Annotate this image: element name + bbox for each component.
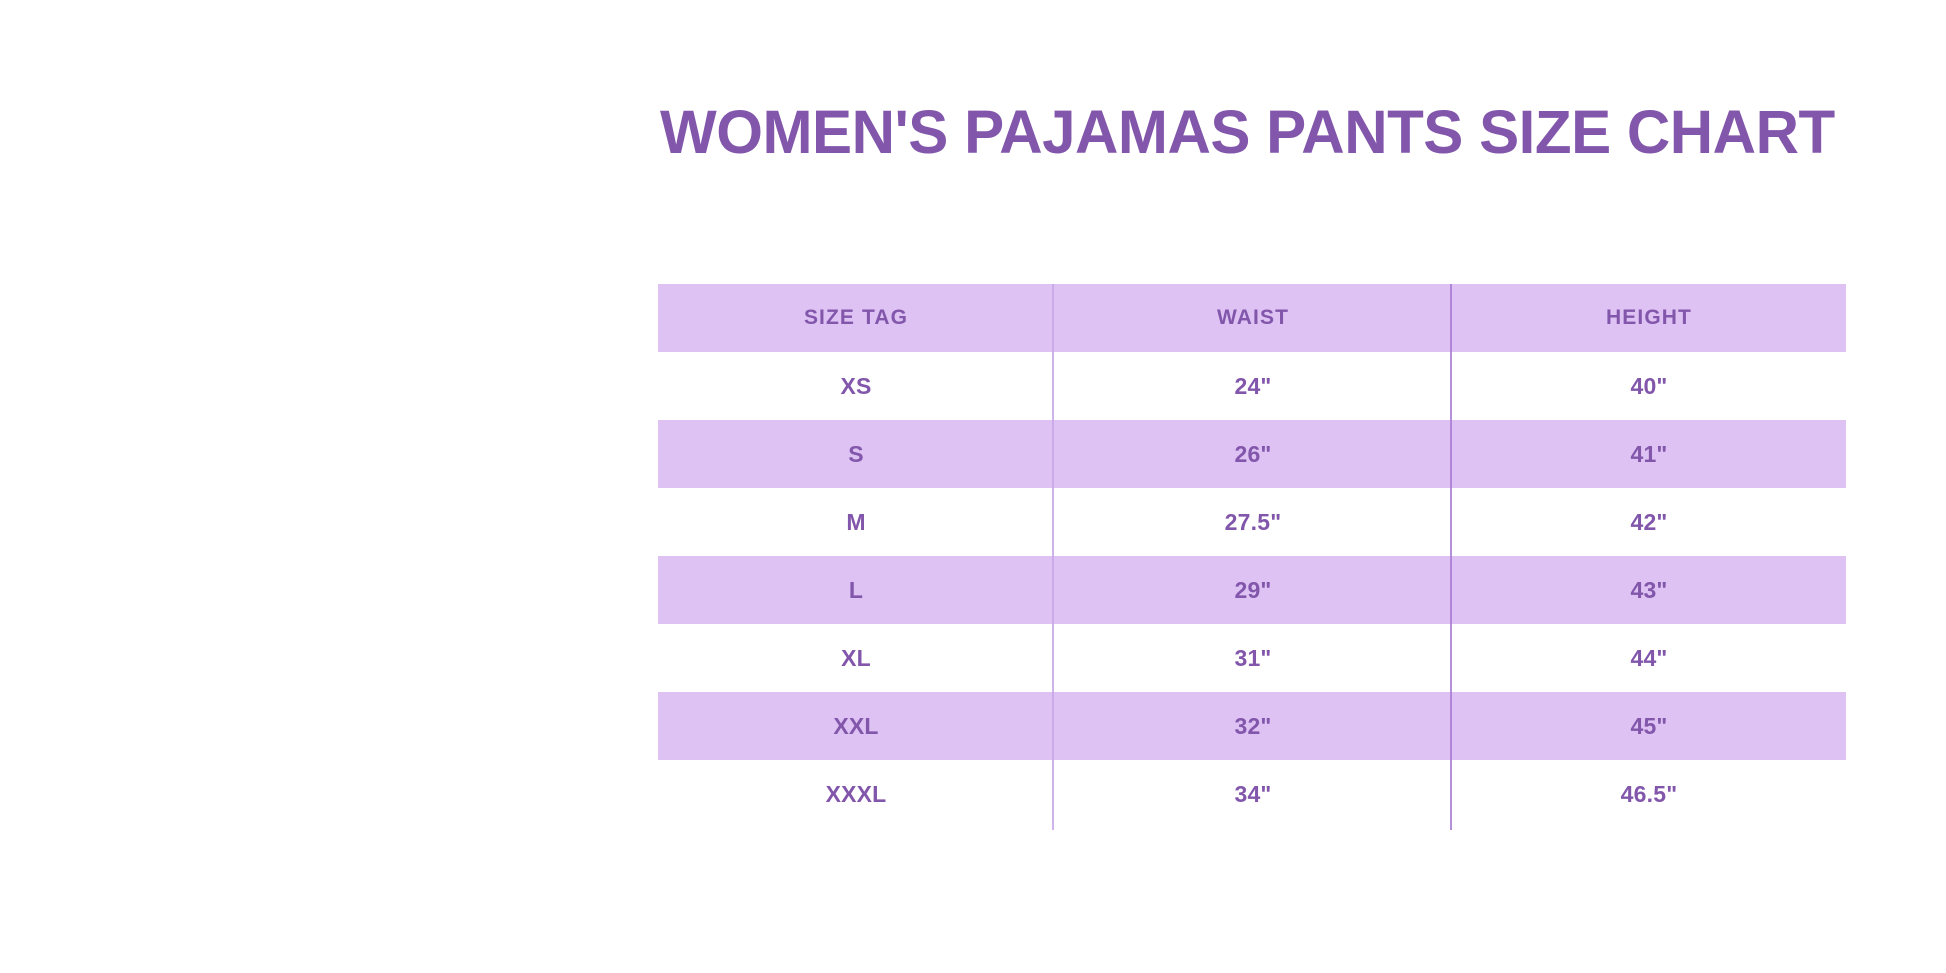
cell-waist: 24" xyxy=(1054,352,1452,420)
size-chart-table-container: SIZE TAG WAIST HEIGHT XS 24" 40" S 26" 4… xyxy=(658,284,1846,830)
cell-waist: 29" xyxy=(1054,556,1452,624)
cell-waist: 32" xyxy=(1054,692,1452,760)
cell-size-tag: XL xyxy=(658,624,1054,692)
cell-size-tag: S xyxy=(658,420,1054,488)
table-row: XS 24" 40" xyxy=(658,352,1846,420)
table-body: XS 24" 40" S 26" 41" M 27.5" 42" L 29" xyxy=(658,352,1846,828)
cell-size-tag: XXL xyxy=(658,692,1054,760)
column-header-size-tag: SIZE TAG xyxy=(658,284,1054,352)
cell-height: 41" xyxy=(1452,420,1846,488)
table-row: XXXL 34" 46.5" xyxy=(658,760,1846,828)
cell-height: 43" xyxy=(1452,556,1846,624)
cell-size-tag: L xyxy=(658,556,1054,624)
cell-size-tag: M xyxy=(658,488,1054,556)
cell-height: 45" xyxy=(1452,692,1846,760)
table-row: L 29" 43" xyxy=(658,556,1846,624)
cell-waist: 34" xyxy=(1054,760,1452,828)
cell-height: 44" xyxy=(1452,624,1846,692)
cell-height: 46.5" xyxy=(1452,760,1846,828)
size-chart-page: WOMEN'S PAJAMAS PANTS SIZE CHART SIZE TA… xyxy=(0,0,1946,973)
cell-waist: 26" xyxy=(1054,420,1452,488)
table-row: XL 31" 44" xyxy=(658,624,1846,692)
table-header: SIZE TAG WAIST HEIGHT xyxy=(658,284,1846,352)
cell-waist: 31" xyxy=(1054,624,1452,692)
table-row: S 26" 41" xyxy=(658,420,1846,488)
table-header-row: SIZE TAG WAIST HEIGHT xyxy=(658,284,1846,352)
column-header-waist: WAIST xyxy=(1054,284,1452,352)
cell-height: 42" xyxy=(1452,488,1846,556)
table-row: XXL 32" 45" xyxy=(658,692,1846,760)
table-row: M 27.5" 42" xyxy=(658,488,1846,556)
column-header-height: HEIGHT xyxy=(1452,284,1846,352)
cell-size-tag: XS xyxy=(658,352,1054,420)
cell-waist: 27.5" xyxy=(1054,488,1452,556)
cell-size-tag: XXXL xyxy=(658,760,1054,828)
size-chart-table: SIZE TAG WAIST HEIGHT XS 24" 40" S 26" 4… xyxy=(658,284,1846,828)
cell-height: 40" xyxy=(1452,352,1846,420)
page-title: WOMEN'S PAJAMAS PANTS SIZE CHART xyxy=(660,96,1899,168)
